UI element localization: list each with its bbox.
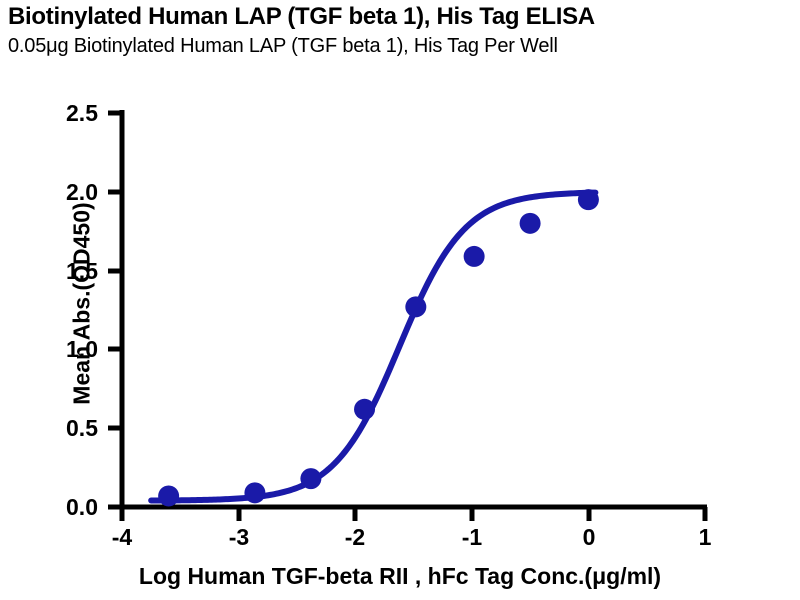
- x-tick-label-5: 1: [680, 524, 730, 551]
- chart-figure: Biotinylated Human LAP (TGF beta 1), His…: [0, 0, 800, 600]
- data-point: [520, 213, 541, 234]
- x-tick-label-2: -2: [330, 524, 380, 551]
- data-markers: [158, 189, 599, 506]
- x-tick-label-3: -1: [447, 524, 497, 551]
- data-point: [405, 296, 426, 317]
- data-point: [354, 399, 375, 420]
- data-point: [244, 482, 265, 503]
- fit-curve: [151, 193, 595, 501]
- x-axis-label: Log Human TGF-beta RII , hFc Tag Conc.(μ…: [0, 563, 800, 590]
- x-tick-label-0: -4: [97, 524, 147, 551]
- data-point: [578, 189, 599, 210]
- x-tick-label-4: 0: [564, 524, 614, 551]
- data-point: [300, 468, 321, 489]
- plot-area: [0, 0, 800, 600]
- y-axis-label: Mean Abs.(OD450): [69, 104, 96, 504]
- x-tick-label-1: -3: [214, 524, 264, 551]
- data-point: [158, 485, 179, 506]
- data-point: [464, 246, 485, 267]
